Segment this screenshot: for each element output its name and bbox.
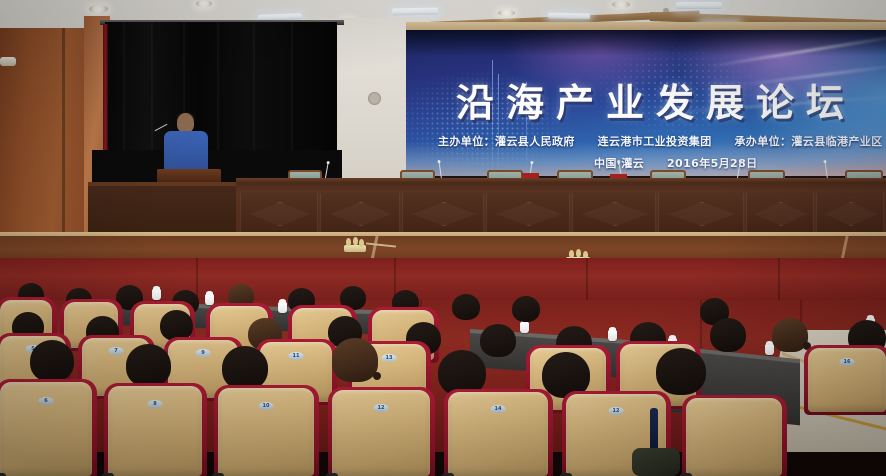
presenter-person <box>163 113 209 173</box>
presenter-torso <box>164 131 208 173</box>
event-backdrop-banner: 沿海产业发展论坛 主办单位：灌云县人民政府 连云港市工业投资集团 承办单位：灌云… <box>406 30 886 176</box>
backpack <box>632 448 680 476</box>
presenter-head <box>177 113 194 133</box>
audience-head <box>480 324 516 357</box>
audience-head-front <box>656 348 706 395</box>
seat-number-plate: 14 <box>491 405 506 413</box>
auditorium-seat-front <box>686 398 782 476</box>
panel-light-3 <box>548 13 590 20</box>
audience-head <box>772 318 808 352</box>
teacup <box>765 344 774 355</box>
table-panel <box>658 192 744 234</box>
table-panel <box>486 192 570 234</box>
auditorium-seat-front: 10 <box>218 388 314 476</box>
downlight-2 <box>196 0 212 7</box>
panel-light-5 <box>676 2 722 9</box>
seat-number-plate: 13 <box>382 354 397 362</box>
table-panel <box>572 192 656 234</box>
auditorium-photo: 沿海产业发展论坛 主办单位：灌云县人民政府 连云港市工业投资集团 承办单位：灌云… <box>0 0 886 476</box>
seat-number-plate: 11 <box>289 352 304 360</box>
audience-head-front <box>222 346 268 390</box>
table-panel <box>240 192 318 234</box>
audience-head-front <box>126 344 171 387</box>
auditorium-seat-front: 12 <box>332 390 430 476</box>
auditorium-seat-front: 8 <box>108 386 202 476</box>
seat-number-plate: 8 <box>148 400 163 408</box>
downlight-5 <box>612 1 630 8</box>
seat-number-plate: 12 <box>374 404 389 412</box>
panel-light-2 <box>392 8 438 16</box>
auditorium-seat: 16 <box>808 348 886 412</box>
auditorium-seat-front: 6 <box>0 382 92 476</box>
table-panel <box>320 192 400 234</box>
table-panel <box>746 192 814 234</box>
table-panel <box>816 192 884 234</box>
audience-head-front <box>332 338 378 382</box>
audience-head <box>710 318 746 352</box>
banner-title: 沿海产业发展论坛 <box>456 72 856 127</box>
audience-head-front <box>30 340 74 382</box>
table-panel <box>402 192 484 234</box>
teacup <box>278 302 287 313</box>
wall-sconce <box>0 57 16 66</box>
seat-number-plate: 16 <box>840 358 855 366</box>
seat-number-plate: 9 <box>196 349 211 357</box>
downlight-4 <box>498 10 515 16</box>
wall-vent-icon <box>368 92 381 105</box>
audience-head <box>452 294 480 320</box>
teacup <box>520 322 529 333</box>
teacup <box>152 289 161 300</box>
seat-number-plate: 6 <box>39 397 54 405</box>
seat-number-plate: 10 <box>259 402 274 410</box>
banner-organizers: 主办单位：灌云县人民政府 连云港市工业投资集团 承办单位：灌云县临港产业区 <box>438 133 883 149</box>
teacup <box>608 330 617 341</box>
downlight-1 <box>89 5 108 13</box>
auditorium-seat-front: 14 <box>448 392 548 476</box>
seat-number-plate: 12 <box>609 407 624 415</box>
teacup <box>205 294 214 305</box>
seat-number-plate: 7 <box>109 347 124 355</box>
audience-head <box>512 296 540 322</box>
floor-plant-left <box>344 238 366 252</box>
ceiling-fixture-c <box>663 8 669 13</box>
